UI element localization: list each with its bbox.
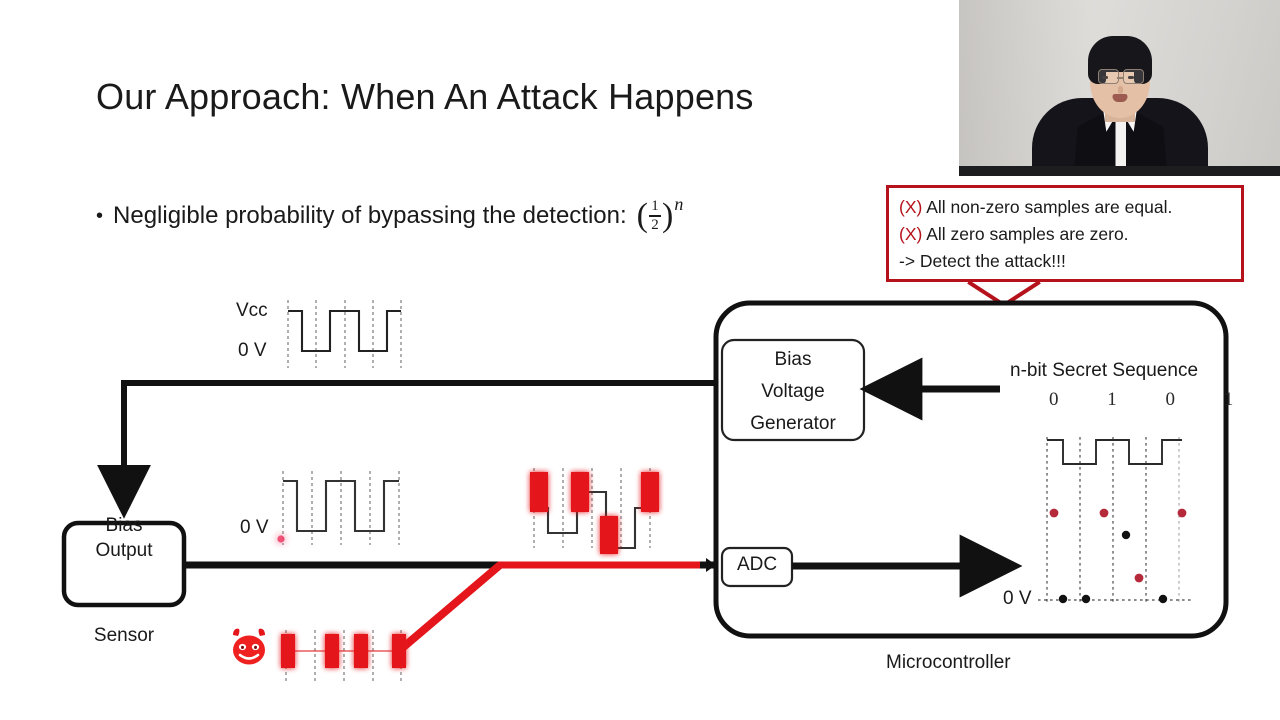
devil-face-icon bbox=[228, 626, 270, 668]
secret-sequence-bits: 0 1 0 1 bbox=[1049, 389, 1255, 411]
attacked-waveform-chart bbox=[530, 468, 659, 554]
vcc-axis-label: Vcc bbox=[236, 300, 268, 322]
bias-output-waveform-chart bbox=[277, 471, 399, 545]
sensor-to-adc-signal-line bbox=[184, 558, 718, 572]
bias-output-label-line2: Output bbox=[64, 538, 184, 563]
vcc-waveform-chart bbox=[288, 300, 401, 368]
sensor-caption: Sensor bbox=[64, 625, 184, 647]
bias-output-label: Bias Output bbox=[64, 513, 184, 563]
attacker-signal-chart bbox=[281, 630, 406, 684]
bias-output-label-line1: Bias bbox=[64, 513, 184, 538]
zero-volt-label-middle: 0 V bbox=[240, 517, 269, 539]
bvg-label-line2: Voltage bbox=[722, 376, 864, 408]
bias-feedback-arrow bbox=[124, 383, 722, 508]
bias-output-signal-trace bbox=[283, 481, 399, 531]
laser-pointer-dot bbox=[277, 535, 284, 542]
attack-injection-line bbox=[400, 565, 500, 650]
zero-volt-label-right: 0 V bbox=[1003, 588, 1032, 610]
microcontroller-caption: Microcontroller bbox=[886, 652, 1011, 674]
attack-injected-pulses bbox=[530, 472, 659, 554]
bvg-label-line3: Generator bbox=[722, 408, 864, 440]
slide-canvas: Our Approach: When An Attack Happens • N… bbox=[0, 0, 1280, 720]
secret-sequence-title: n-bit Secret Sequence bbox=[1010, 360, 1198, 382]
zero-volt-label-top: 0 V bbox=[238, 340, 267, 362]
attacked-waveform-gridlines bbox=[534, 468, 650, 548]
bias-voltage-generator-label: Bias Voltage Generator bbox=[722, 344, 864, 440]
bias-output-gridlines bbox=[283, 471, 399, 545]
attacker-signal-gridlines bbox=[286, 630, 401, 684]
bvg-label-line1: Bias bbox=[722, 344, 864, 376]
adc-label: ADC bbox=[722, 554, 792, 576]
